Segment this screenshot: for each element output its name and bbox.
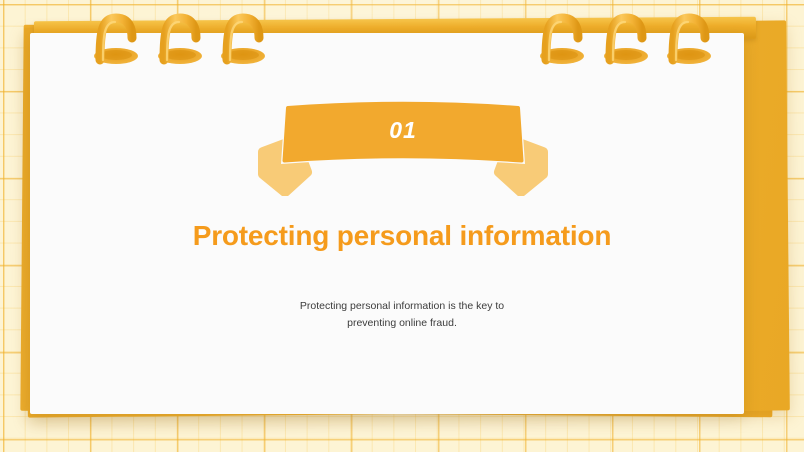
page-title: Protecting personal information [0,220,804,252]
body-line-2: preventing online fraud. [252,315,552,332]
slide-canvas: 01 Protecting personal information Prote… [0,0,804,452]
body-line-1: Protecting personal information is the k… [252,298,552,315]
body-paragraph: Protecting personal information is the k… [252,298,552,333]
section-number-banner: 01 [255,96,551,196]
section-number: 01 [255,96,551,168]
